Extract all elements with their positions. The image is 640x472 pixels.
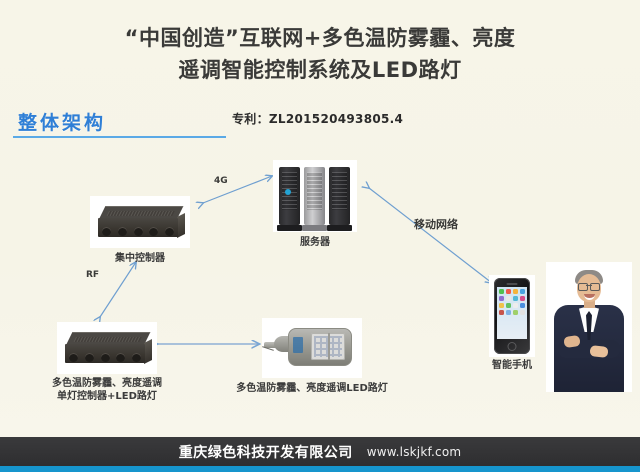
footer-company: 重庆绿色科技开发有限公司: [179, 442, 353, 462]
title-line-2: 遥调智能控制系统及LED路灯: [0, 54, 640, 86]
street-lamp-icon: [262, 318, 362, 378]
node-led-street-lamp-label: 多色温防雾霾、亮度遥调LED路灯: [236, 382, 388, 395]
arrow-rf: [100, 262, 136, 317]
node-concentrator-label: 集中控制器: [115, 252, 165, 265]
node-smartphone[interactable]: 智能手机: [489, 275, 535, 357]
arrow-label-rf: RF: [86, 270, 99, 280]
server-tower-icon: [273, 160, 357, 232]
controller-box-icon: [57, 322, 157, 374]
node-concentrator[interactable]: 集中控制器: [90, 196, 190, 248]
node-led-street-lamp[interactable]: 多色温防雾霾、亮度遥调LED路灯: [262, 318, 362, 378]
node-single-lamp-controller[interactable]: 多色温防雾霾、亮度遥调 单灯控制器+LED路灯: [57, 322, 157, 374]
arrow-label-mobile-network: 移动网络: [414, 216, 458, 232]
footer-accent-strip: [0, 466, 640, 472]
footer-website: www.lskjkf.com: [367, 445, 462, 459]
page-title: “中国创造”互联网+多色温防雾霾、亮度 遥调智能控制系统及LED路灯: [0, 22, 640, 86]
section-header: 整体架构: [18, 108, 106, 135]
section-divider: [13, 136, 226, 138]
node-single-lamp-controller-label-1: 多色温防雾霾、亮度遥调: [52, 377, 162, 390]
controller-box-icon: [90, 196, 190, 248]
businessman-photo: [546, 262, 632, 392]
title-line-1: “中国创造”互联网+多色温防雾霾、亮度: [0, 22, 640, 54]
arrow-mobile-network: [369, 188, 492, 283]
node-server-label: 服务器: [300, 236, 330, 249]
node-smartphone-label: 智能手机: [492, 359, 532, 372]
smartphone-icon: [489, 275, 535, 357]
patent-number: 专利：ZL201520493805.4: [232, 110, 403, 127]
node-single-lamp-controller-label-2: 单灯控制器+LED路灯: [57, 390, 157, 403]
slide-canvas: “中国创造”互联网+多色温防雾霾、亮度 遥调智能控制系统及LED路灯 整体架构 …: [0, 0, 640, 472]
footer-bar: 重庆绿色科技开发有限公司 www.lskjkf.com: [0, 437, 640, 466]
section-header-label: 整体架构: [18, 112, 106, 134]
arrow-label-4g: 4G: [214, 176, 228, 186]
node-server[interactable]: 服务器: [273, 160, 357, 232]
